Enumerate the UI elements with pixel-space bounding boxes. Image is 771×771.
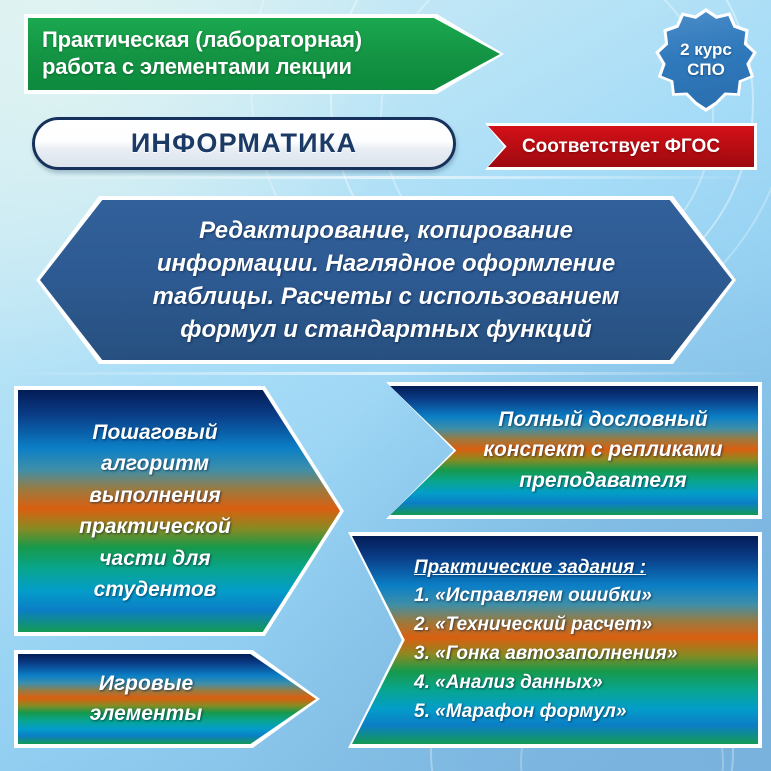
practical-task-item: 2. «Технический расчет» xyxy=(414,611,750,640)
main-title-line-2: информации. Наглядное оформление xyxy=(157,247,615,280)
feature-algorithm-line-5: части для xyxy=(99,543,210,575)
main-title-line-3: таблицы. Расчеты с использованием xyxy=(153,280,620,313)
practical-tasks-body: Практические задания : 1. «Исправляем ош… xyxy=(352,536,758,744)
work-type-banner: Практическая (лабораторная) работа с эле… xyxy=(24,14,504,94)
practical-tasks-list: 1. «Исправляем ошибки» 2. «Технический р… xyxy=(414,582,750,726)
practical-task-item: 4. «Анализ данных» xyxy=(414,669,750,698)
standard-ribbon: Соответствует ФГОС xyxy=(485,123,757,170)
feature-notes-line-1: Полный дословный xyxy=(498,405,708,435)
feature-notes-chevron: Полный дословный конспект с репликами пр… xyxy=(386,382,762,519)
feature-notes-line-3: преподавателя xyxy=(519,466,687,496)
feature-algorithm-line-4: практической xyxy=(79,511,231,543)
main-title-hexagon: Редактирование, копирование информации. … xyxy=(36,196,736,364)
work-type-line-1: Практическая (лабораторная) xyxy=(42,27,500,54)
poster-canvas: Практическая (лабораторная) работа с эле… xyxy=(0,0,771,771)
feature-algorithm-body: Пошаговый алгоритм выполнения практическ… xyxy=(18,390,340,632)
feature-algorithm-line-3: выполнения xyxy=(89,480,221,512)
feature-game-elements-arrow: Игровые элементы xyxy=(14,650,320,748)
course-badge-line-1: 2 курс xyxy=(680,40,732,60)
subject-pill: ИНФОРМАТИКА xyxy=(32,117,456,170)
main-title-line-4: формул и стандартных функций xyxy=(180,313,591,346)
feature-game-elements-body: Игровые элементы xyxy=(18,654,316,744)
practical-task-item: 3. «Гонка автозаполнения» xyxy=(414,640,750,669)
feature-algorithm-line-2: алгоритм xyxy=(101,448,209,480)
course-badge: 2 курс СПО xyxy=(654,8,758,112)
feature-algorithm-line-6: студентов xyxy=(94,574,217,606)
decorative-divider xyxy=(0,176,771,179)
practical-tasks-title: Практические задания : xyxy=(414,554,750,583)
feature-notes-line-2: конспект с репликами xyxy=(483,435,722,465)
feature-algorithm-line-1: Пошаговый xyxy=(92,417,217,449)
feature-game-elements-line-2: элементы xyxy=(90,699,203,729)
work-type-line-2: работа с элементами лекции xyxy=(42,54,500,81)
practical-task-item: 5. «Марафон формул» xyxy=(414,698,750,727)
main-title-line-1: Редактирование, копирование xyxy=(199,214,573,247)
course-badge-line-2: СПО xyxy=(687,60,725,80)
standard-ribbon-label: Соответствует ФГОС xyxy=(522,136,720,158)
practical-tasks-chevron: Практические задания : 1. «Исправляем ош… xyxy=(348,532,762,748)
feature-game-elements-line-1: Игровые xyxy=(99,669,193,699)
subject-label: ИНФОРМАТИКА xyxy=(131,128,357,159)
main-title-body: Редактирование, копирование информации. … xyxy=(40,200,732,360)
decorative-divider xyxy=(0,372,771,375)
practical-task-item: 1. «Исправляем ошибки» xyxy=(414,582,750,611)
standard-ribbon-body: Соответствует ФГОС xyxy=(488,126,754,167)
feature-algorithm-arrow: Пошаговый алгоритм выполнения практическ… xyxy=(14,386,344,636)
feature-notes-body: Полный дословный конспект с репликами пр… xyxy=(390,386,758,515)
work-type-banner-body: Практическая (лабораторная) работа с эле… xyxy=(28,18,500,90)
